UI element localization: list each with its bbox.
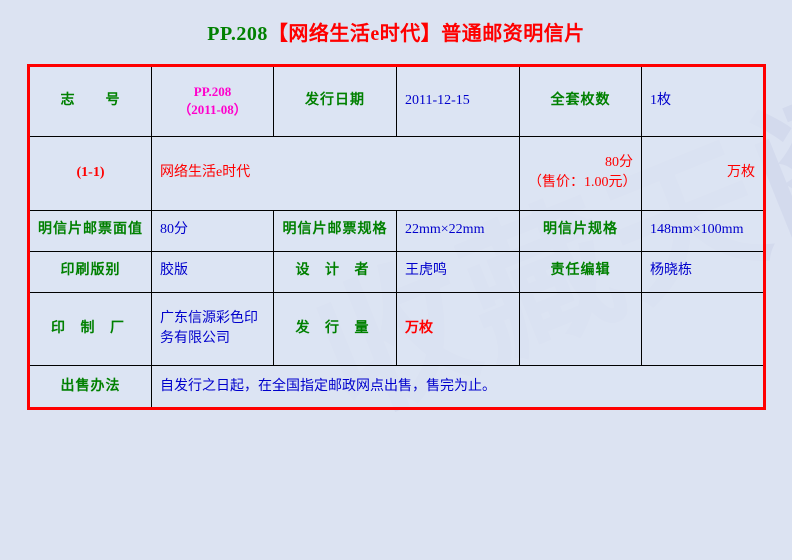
label-sale-method: 出售办法 bbox=[29, 366, 152, 409]
title-main: 【网络生活e时代】普通邮资明信片 bbox=[268, 23, 585, 45]
empty-cell-r5-c5 bbox=[520, 292, 642, 366]
table-row: 明信片邮票面值 80分 明信片邮票规格 22mm×22mm 明信片规格 148m… bbox=[29, 210, 765, 251]
value-serial-number: PP.208 （2011-08） bbox=[152, 66, 274, 137]
table-row: 志 号 PP.208 （2011-08） 发行日期 2011-12-15 全套枚… bbox=[29, 66, 765, 137]
face-value-amount: 80分 bbox=[528, 153, 633, 173]
face-value-sale-price: （售价：1.00元） bbox=[528, 173, 633, 193]
value-issue-date: 2011-12-15 bbox=[397, 66, 520, 137]
label-serial-number: 志 号 bbox=[29, 66, 152, 137]
value-printing-house: 广东信源彩色印务有限公司 bbox=[152, 292, 274, 366]
table-row: 印 制 厂 广东信源彩色印务有限公司 发 行 量 万枚 bbox=[29, 292, 765, 366]
table-row: 印刷版别 胶版 设 计 者 王虎鸣 责任编辑 杨晓栋 bbox=[29, 251, 765, 292]
value-print-type: 胶版 bbox=[152, 251, 274, 292]
serial-number-code: PP.208 bbox=[160, 83, 265, 102]
value-issue-quantity: 万枚 bbox=[397, 292, 520, 366]
value-item-name: 网络生活e时代 bbox=[152, 136, 520, 210]
value-face-price: 80分 （售价：1.00元） bbox=[520, 136, 642, 210]
label-printing-house: 印 制 厂 bbox=[29, 292, 152, 366]
label-stamp-size: 明信片邮票规格 bbox=[274, 210, 397, 251]
label-designer: 设 计 者 bbox=[274, 251, 397, 292]
label-stamp-face-value: 明信片邮票面值 bbox=[29, 210, 152, 251]
value-designer: 王虎鸣 bbox=[397, 251, 520, 292]
value-postcard-size: 148mm×100mm bbox=[642, 210, 765, 251]
table-row: 出售办法 自发行之日起，在全国指定邮政网点出售，售完为止。 bbox=[29, 366, 765, 409]
label-print-type: 印刷版别 bbox=[29, 251, 152, 292]
serial-number-year: （2011-08） bbox=[160, 101, 265, 120]
label-issue-quantity: 发 行 量 bbox=[274, 292, 397, 366]
value-print-quantity: 万枚 bbox=[642, 136, 765, 210]
title-code: PP.208 bbox=[207, 23, 268, 45]
label-postcard-size: 明信片规格 bbox=[520, 210, 642, 251]
label-issue-date: 发行日期 bbox=[274, 66, 397, 137]
table-row: (1-1) 网络生活e时代 80分 （售价：1.00元） 万枚 bbox=[29, 136, 765, 210]
page-title: PP.208【网络生活e时代】普通邮资明信片 bbox=[0, 0, 792, 47]
value-stamp-face-value: 80分 bbox=[152, 210, 274, 251]
value-sale-method: 自发行之日起，在全国指定邮政网点出售，售完为止。 bbox=[152, 366, 765, 409]
value-set-count: 1枚 bbox=[642, 66, 765, 137]
stamp-info-table-container: 志 号 PP.208 （2011-08） 发行日期 2011-12-15 全套枚… bbox=[27, 64, 763, 410]
stamp-info-table: 志 号 PP.208 （2011-08） 发行日期 2011-12-15 全套枚… bbox=[27, 64, 766, 410]
value-item-index: (1-1) bbox=[29, 136, 152, 210]
empty-cell-r5-c6 bbox=[642, 292, 765, 366]
value-editor: 杨晓栋 bbox=[642, 251, 765, 292]
label-editor: 责任编辑 bbox=[520, 251, 642, 292]
label-set-count: 全套枚数 bbox=[520, 66, 642, 137]
value-stamp-size: 22mm×22mm bbox=[397, 210, 520, 251]
